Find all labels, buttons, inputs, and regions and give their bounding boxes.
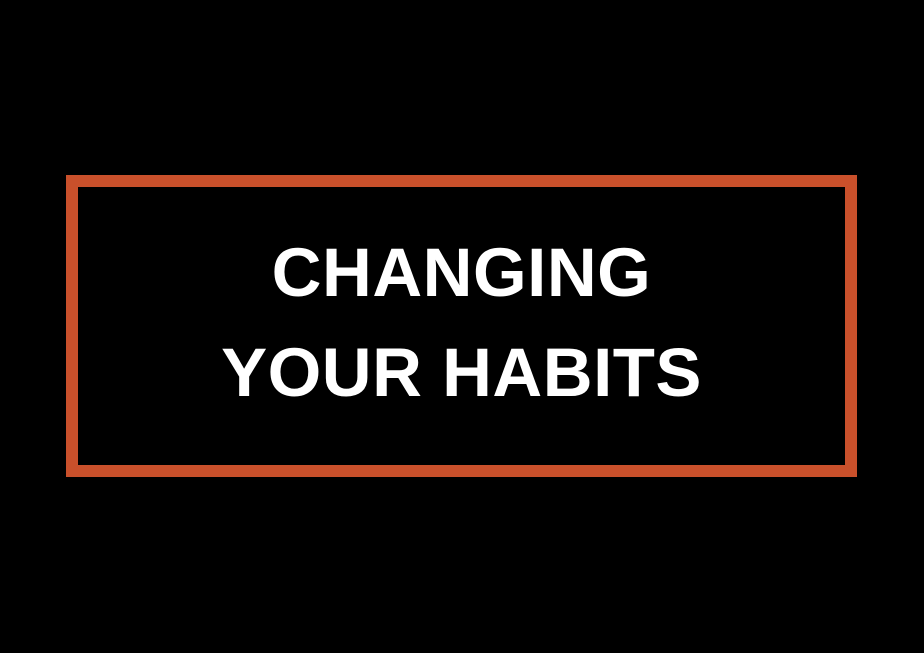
title-frame: CHANGING YOUR HABITS [66,175,857,477]
slide-canvas: CHANGING YOUR HABITS [0,0,924,653]
title-line-1: CHANGING [78,223,845,323]
title-block: CHANGING YOUR HABITS [78,223,845,423]
title-line-2: YOUR HABITS [78,323,845,423]
